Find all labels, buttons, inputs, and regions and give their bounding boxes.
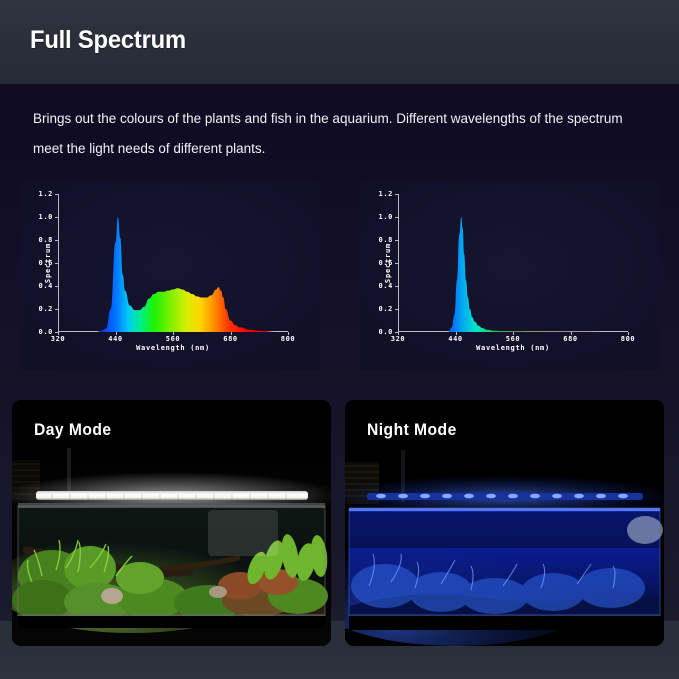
panel-day-mode: Day Mode <box>12 400 331 646</box>
page-header: Full Spectrum <box>0 0 679 84</box>
chart-day-spectrum: Spectrum Wavelength (nm) 0.00.20.40.60.8… <box>20 180 320 370</box>
x-tick-label: 680 <box>223 335 237 343</box>
y-tick-label: 0.8 <box>39 236 53 244</box>
x-tick-mark <box>288 332 289 335</box>
y-tick-label: 0.2 <box>379 305 393 313</box>
x-tick-mark <box>58 332 59 335</box>
spectrum-area-night <box>398 217 628 332</box>
x-tick-mark <box>231 332 232 335</box>
x-tick-label: 440 <box>448 335 462 343</box>
y-tick-label: 1.0 <box>379 213 393 221</box>
x-axis-label-day: Wavelength (nm) <box>136 344 210 352</box>
y-tick-label: 0.8 <box>379 236 393 244</box>
x-tick-mark <box>571 332 572 335</box>
page-title: Full Spectrum <box>30 26 186 55</box>
spectrum-curve-night <box>398 194 628 332</box>
spectrum-charts: Spectrum Wavelength (nm) 0.00.20.40.60.8… <box>0 180 679 370</box>
spectrum-area-day <box>58 217 288 332</box>
x-tick-mark <box>116 332 117 335</box>
y-tick-label: 0.4 <box>39 282 53 290</box>
y-tick-label: 1.2 <box>39 190 53 198</box>
y-tick-label: 1.0 <box>39 213 53 221</box>
y-tick-label: 0.6 <box>39 259 53 267</box>
mode-panels: Day Mode <box>0 400 679 646</box>
plot-area-night: Spectrum Wavelength (nm) 0.00.20.40.60.8… <box>398 194 628 332</box>
x-tick-label: 800 <box>281 335 295 343</box>
x-tick-mark <box>628 332 629 335</box>
x-tick-label: 320 <box>391 335 405 343</box>
x-tick-label: 320 <box>51 335 65 343</box>
x-axis-label-night: Wavelength (nm) <box>476 344 550 352</box>
day-mode-label: Day Mode <box>34 420 112 440</box>
y-tick-label: 0.4 <box>379 282 393 290</box>
x-tick-label: 560 <box>506 335 520 343</box>
x-tick-mark <box>173 332 174 335</box>
y-tick-label: 0.2 <box>39 305 53 313</box>
x-tick-mark <box>456 332 457 335</box>
chart-night-spectrum: Spectrum Wavelength (nm) 0.00.20.40.60.8… <box>360 180 660 370</box>
page-footer <box>0 646 679 679</box>
y-tick-label: 1.2 <box>379 190 393 198</box>
night-mode-label: Night Mode <box>367 420 457 440</box>
intro-paragraph: Brings out the colours of the plants and… <box>33 104 633 164</box>
x-tick-label: 680 <box>563 335 577 343</box>
x-tick-label: 560 <box>166 335 180 343</box>
spectrum-curve-day <box>58 194 288 332</box>
panel-night-mode: Night Mode <box>345 400 664 646</box>
product-feature-page: Full Spectrum Brings out the colours of … <box>0 0 679 679</box>
x-tick-label: 440 <box>108 335 122 343</box>
plot-area-day: Spectrum Wavelength (nm) 0.00.20.40.60.8… <box>58 194 288 332</box>
x-tick-label: 800 <box>621 335 635 343</box>
x-tick-mark <box>513 332 514 335</box>
y-tick-label: 0.6 <box>379 259 393 267</box>
x-tick-mark <box>398 332 399 335</box>
